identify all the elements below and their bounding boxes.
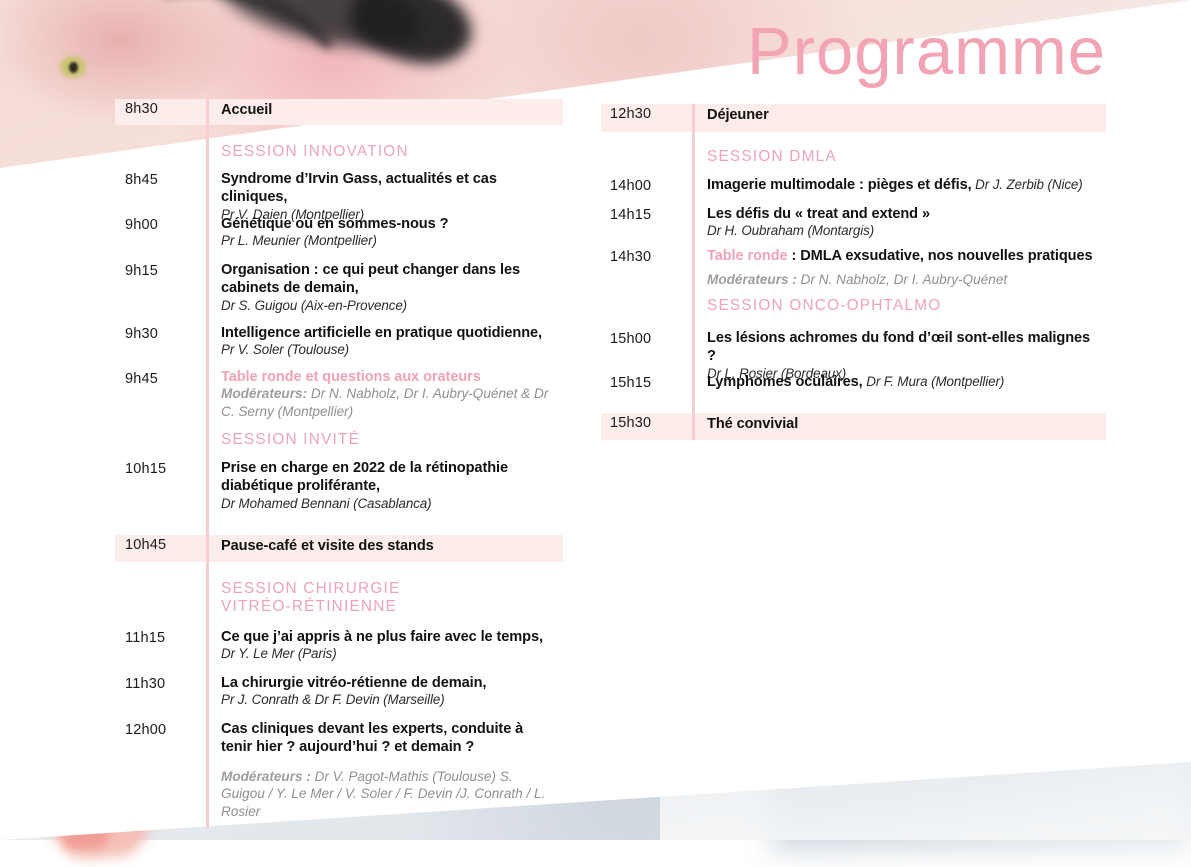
row-time: 8h30 bbox=[115, 99, 204, 117]
row-time: 8h45 bbox=[115, 170, 204, 188]
schedule-row: 12h30 Déjeuner bbox=[601, 104, 1106, 132]
programme-column-afternoon: 12h30 Déjeuner SESSION DMLA 14h00 Imager… bbox=[601, 104, 1106, 440]
programme-column-morning: 8h30 Accueil SESSION INNOVATION 8h45 Syn… bbox=[115, 99, 563, 828]
row-spacer bbox=[115, 125, 563, 143]
moderators-names: Dr N. Nabholz, Dr I. Aubry-Quénet bbox=[797, 272, 1007, 287]
row-title: Intelligence artificielle en pratique qu… bbox=[221, 324, 557, 342]
schedule-row: 10h45 Pause-café et visite des stands bbox=[115, 535, 563, 562]
row-time: 15h30 bbox=[601, 413, 690, 431]
schedule-row: 14h15 Les défis du « treat and extend » … bbox=[601, 205, 1106, 247]
row-time: 14h15 bbox=[601, 205, 690, 223]
row-time: 10h15 bbox=[115, 459, 204, 477]
schedule-row: 8h30 Accueil bbox=[115, 99, 563, 125]
row-time: 15h15 bbox=[601, 373, 690, 391]
row-time: 14h30 bbox=[601, 247, 690, 265]
session-heading: SESSION INNOVATION bbox=[221, 143, 557, 161]
row-time: 9h00 bbox=[115, 215, 204, 233]
roundtable-row: 9h45 Table ronde et questions aux orateu… bbox=[115, 369, 563, 431]
row-speaker: Dr H. Oubraham (Montargis) bbox=[707, 223, 1100, 240]
row-time: 9h30 bbox=[115, 324, 204, 342]
row-spacer bbox=[601, 404, 1106, 413]
row-time: 12h30 bbox=[601, 104, 690, 122]
row-title: Pause-café et visite des stands bbox=[221, 537, 557, 555]
row-speaker: Dr Y. Le Mer (Paris) bbox=[221, 646, 557, 663]
row-title: Lymphomes oculaires, bbox=[707, 374, 863, 390]
row-time bbox=[115, 580, 204, 582]
row-title: Les défis du « treat and extend » bbox=[707, 205, 1100, 223]
row-title: Ce que j’ai appris à ne plus faire avec … bbox=[221, 628, 557, 646]
schedule-row: 11h15 Ce que j’ai appris à ne plus faire… bbox=[115, 628, 563, 674]
session-heading: SESSION DMLA bbox=[707, 148, 1100, 166]
row-speaker: Dr J. Zerbib (Nice) bbox=[972, 177, 1083, 192]
session-header-row: SESSION INVITÉ bbox=[115, 431, 563, 459]
row-title: Les lésions achromes du fond d’œil sont-… bbox=[707, 329, 1100, 366]
row-spacer bbox=[115, 523, 563, 535]
session-header-row: SESSION INNOVATION bbox=[115, 143, 563, 170]
schedule-row: 14h00 Imagerie multimodale : pièges et d… bbox=[601, 176, 1106, 205]
row-time: 14h00 bbox=[601, 176, 690, 194]
schedule-row: 8h45 Syndrome d’Irvin Gass, actualités e… bbox=[115, 170, 563, 215]
schedule-row: 15h15 Lymphomes oculaires, Dr F. Mura (M… bbox=[601, 373, 1106, 404]
row-time: 9h15 bbox=[115, 261, 204, 279]
moderators-label: Modérateurs: bbox=[221, 386, 307, 401]
row-time: 15h00 bbox=[601, 329, 690, 347]
row-time: 11h15 bbox=[115, 628, 204, 646]
row-speaker: Dr S. Guigou (Aix-en-Provence) bbox=[221, 298, 557, 315]
row-time bbox=[115, 143, 204, 145]
row-spacer bbox=[601, 132, 1106, 148]
row-speaker: Dr F. Mura (Montpellier) bbox=[863, 374, 1005, 389]
row-title: Cas cliniques devant les experts, condui… bbox=[221, 720, 551, 757]
schedule-row: 10h15 Prise en charge en 2022 de la réti… bbox=[115, 459, 563, 523]
roundtable-title: Table ronde et questions aux orateurs bbox=[221, 369, 557, 385]
row-time: 9h45 bbox=[115, 369, 204, 387]
session-heading: SESSION INVITÉ bbox=[221, 431, 557, 449]
moderators-label: Modérateurs : bbox=[707, 272, 797, 287]
row-time bbox=[601, 297, 690, 299]
flamingo-eye-pupil bbox=[69, 62, 78, 73]
session-header-row: SESSION ONCO-OPHTALMO bbox=[601, 297, 1106, 329]
row-time bbox=[601, 148, 690, 150]
schedule-row: 12h00 Cas cliniques devant les experts, … bbox=[115, 720, 563, 828]
row-time bbox=[115, 431, 204, 433]
row-title: Génétique où en sommes-nous ? bbox=[221, 215, 557, 233]
row-title: Organisation : ce qui peut changer dans … bbox=[221, 261, 521, 298]
schedule-row: 9h30 Intelligence artificielle en pratiq… bbox=[115, 324, 563, 369]
session-heading: SESSION CHIRURGIE VITRÉO-RÉTINIENNE bbox=[221, 580, 421, 616]
session-header-row: SESSION DMLA bbox=[601, 148, 1106, 176]
schedule-row: 9h15 Organisation : ce qui peut changer … bbox=[115, 261, 563, 324]
schedule-row: 15h30 Thé convivial bbox=[601, 413, 1106, 440]
session-heading: SESSION ONCO-OPHTALMO bbox=[707, 297, 1100, 315]
row-title: Syndrome d’Irvin Gass, actualités et cas… bbox=[221, 170, 557, 207]
schedule-row: 15h00 Les lésions achromes du fond d’œil… bbox=[601, 329, 1106, 373]
row-speaker: Pr V. Soler (Toulouse) bbox=[221, 342, 557, 359]
row-speaker: Pr L. Meunier (Montpellier) bbox=[221, 233, 557, 250]
row-time: 11h30 bbox=[115, 674, 204, 692]
schedule-row: 11h30 La chirurgie vitréo-rétienne de de… bbox=[115, 674, 563, 720]
roundtable-subject: : DMLA exsudative, nos nouvelles pratiqu… bbox=[788, 248, 1093, 264]
row-spacer bbox=[115, 562, 563, 580]
row-title: Thé convivial bbox=[707, 415, 1100, 433]
row-time: 12h00 bbox=[115, 720, 204, 738]
row-speaker: Pr J. Conrath & Dr F. Devin (Marseille) bbox=[221, 692, 557, 709]
row-title: Prise en charge en 2022 de la rétinopath… bbox=[221, 459, 521, 496]
schedule-row: 9h00 Génétique où en sommes-nous ? Pr L.… bbox=[115, 215, 563, 261]
roundtable-row: 14h30 Table ronde : DMLA exsudative, nos… bbox=[601, 247, 1106, 297]
row-title: La chirurgie vitréo-rétienne de demain, bbox=[221, 674, 557, 692]
page-title: Programme bbox=[747, 18, 1106, 85]
session-header-row: SESSION CHIRURGIE VITRÉO-RÉTINIENNE bbox=[115, 580, 563, 628]
row-time: 10h45 bbox=[115, 535, 204, 553]
roundtable-title: Table ronde bbox=[707, 248, 788, 264]
row-speaker: Dr Mohamed Bennani (Casablanca) bbox=[221, 496, 557, 513]
moderators-label: Modérateurs : bbox=[221, 769, 311, 784]
row-title: Déjeuner bbox=[707, 106, 1100, 124]
row-title: Imagerie multimodale : pièges et défis, bbox=[707, 177, 972, 193]
row-title: Accueil bbox=[221, 101, 557, 119]
